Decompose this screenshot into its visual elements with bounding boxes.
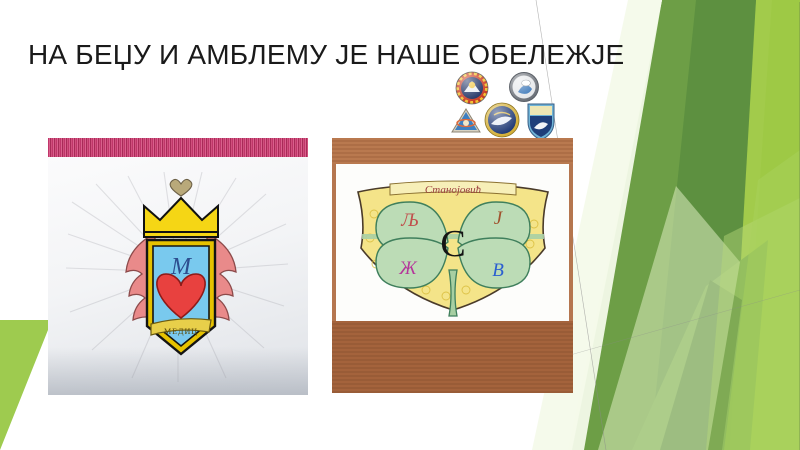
patch-red-yellow-round: [456, 72, 488, 104]
mission-patches-cluster: [450, 70, 562, 142]
small-heart-icon: [170, 179, 192, 196]
patch-blue-globe-round: [510, 73, 539, 102]
wood-table-top: [332, 138, 573, 164]
leaf-letter-bottom-left: Ж: [398, 258, 418, 279]
leaf-letter-top-left: Љ: [400, 210, 419, 231]
photo-clover-shield-drawing: Станојовић Љ Ј Ж В С: [332, 138, 573, 393]
crown-icon: [144, 198, 218, 232]
wood-table-bottom: [332, 321, 573, 393]
crown-shield-artwork: М МЕДИЦ: [108, 174, 254, 370]
patch-triangle-orbit: [452, 109, 480, 132]
patch-navy-gold-round: [485, 103, 519, 137]
patch-shield-crest: [528, 104, 554, 140]
center-letter: С: [440, 223, 465, 265]
banner-surname: Станојовић: [425, 184, 482, 196]
leaf-letter-bottom-right: В: [492, 260, 504, 281]
striped-fabric-band: [48, 138, 308, 157]
ribbon-text: МЕДИЦ: [164, 327, 198, 336]
clover-shield-artwork: Станојовић Љ Ј Ж В С: [348, 178, 558, 318]
mission-patches-image: [450, 70, 562, 142]
photo-crown-shield-drawing: М МЕДИЦ: [48, 138, 308, 395]
presentation-slide: НА БЕЏУ И АМБЛЕМУ ЈЕ НАШЕ ОБЕЛЕЖЈЕ: [0, 0, 800, 450]
